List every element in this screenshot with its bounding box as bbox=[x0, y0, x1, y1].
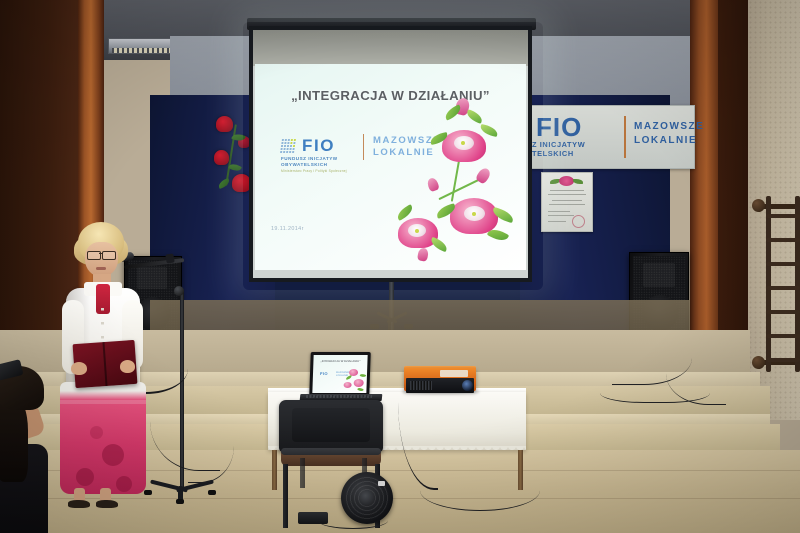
wall-bar-mount-bottom bbox=[752, 356, 765, 369]
stage-skirting bbox=[150, 300, 690, 332]
wall-bar-rung bbox=[766, 358, 800, 362]
microphone-boom-joint[interactable] bbox=[174, 286, 184, 296]
floor-fan-hub bbox=[359, 490, 375, 506]
wall-bar-rung bbox=[766, 334, 800, 338]
projected-slide: „INTEGRACJA W DZIAŁANIU” FIO FUNDUSZ INI… bbox=[255, 64, 526, 270]
presenter-skirt bbox=[60, 382, 146, 494]
presenter-right-hand bbox=[120, 360, 135, 373]
certificate-poster bbox=[541, 172, 593, 232]
wall-bar-rung bbox=[766, 310, 800, 314]
wall-bar-mount-top bbox=[752, 199, 765, 212]
table-leg bbox=[272, 450, 277, 490]
wall-bar-rail-left bbox=[766, 196, 771, 372]
laptop-slide-title: „INTEGRACJA W DZIAŁANIU” bbox=[313, 359, 367, 363]
slide-logo-acronym: FIO bbox=[302, 136, 335, 156]
cable bbox=[318, 512, 388, 529]
fio-dots-icon bbox=[280, 139, 296, 153]
laptop-screen: „INTEGRACJA W DZIAŁANIU” FIO MAZOWSZE LO… bbox=[309, 352, 371, 396]
certificate-seal bbox=[572, 215, 585, 228]
presenter-mouth bbox=[96, 267, 106, 270]
certificate-leaf-icon bbox=[573, 179, 583, 184]
wall-bar-rung bbox=[766, 214, 800, 218]
laptop-logo-acronym: FIO bbox=[320, 371, 328, 376]
banner-divider bbox=[624, 116, 626, 158]
presenter-shoe bbox=[68, 500, 90, 508]
slide-folk-rose-decoration bbox=[396, 94, 524, 270]
wall-bar-rung bbox=[766, 286, 800, 290]
curtain-flower-decoration bbox=[196, 108, 256, 203]
slide-fio-logo: FIO bbox=[281, 136, 335, 156]
presentation-photo: FIO Z INICJATYW TELSKICH MAZOWSZE LOKALN… bbox=[0, 0, 800, 533]
presenter bbox=[38, 222, 158, 504]
projection-screen-top-band bbox=[253, 30, 528, 66]
mic-stand-foot bbox=[176, 499, 184, 504]
slide-date: 19.11.2014r bbox=[271, 226, 304, 232]
glasses-icon bbox=[102, 251, 116, 260]
projector-control-panel[interactable] bbox=[440, 370, 468, 377]
chair-seat bbox=[281, 448, 381, 455]
wall-banner-fio: FIO Z INICJATYW TELSKICH MAZOWSZE LOKALN… bbox=[527, 105, 695, 169]
banner-program-name: MAZOWSZE LOKALNIE bbox=[634, 120, 704, 148]
mic-stand-foot bbox=[208, 490, 216, 495]
glasses-bridge bbox=[99, 253, 103, 254]
foreground-person bbox=[0, 356, 56, 533]
wall-bar-rail-right bbox=[795, 196, 800, 372]
cable bbox=[420, 470, 540, 511]
banner-expansion: Z INICJATYW TELSKICH bbox=[532, 140, 585, 158]
chair-backrest-inner bbox=[292, 408, 370, 442]
microphone-clip bbox=[165, 253, 174, 263]
projector-vent bbox=[410, 381, 432, 390]
slide-logo-ministry-note: Ministerstwo Pracy i Polityki Społecznej bbox=[281, 169, 401, 173]
slide-logo-divider bbox=[363, 134, 364, 160]
presenter-shoe bbox=[96, 500, 118, 508]
banner-acronym: FIO bbox=[536, 114, 582, 140]
wall-bar-rung bbox=[766, 262, 800, 266]
presenter-left-hand bbox=[71, 362, 87, 375]
projector-lens bbox=[462, 380, 473, 391]
presenter-skirt-band bbox=[60, 400, 146, 404]
wall-bar-rung bbox=[766, 238, 800, 242]
laptop-keyboard[interactable] bbox=[306, 395, 372, 398]
floor-fan-label bbox=[378, 481, 385, 486]
chair-leg bbox=[283, 464, 288, 528]
certificate-rose-icon bbox=[559, 176, 574, 186]
chair-leg bbox=[300, 458, 305, 488]
laptop-display: „INTEGRACJA W DZIAŁANIU” FIO MAZOWSZE LO… bbox=[312, 355, 367, 393]
